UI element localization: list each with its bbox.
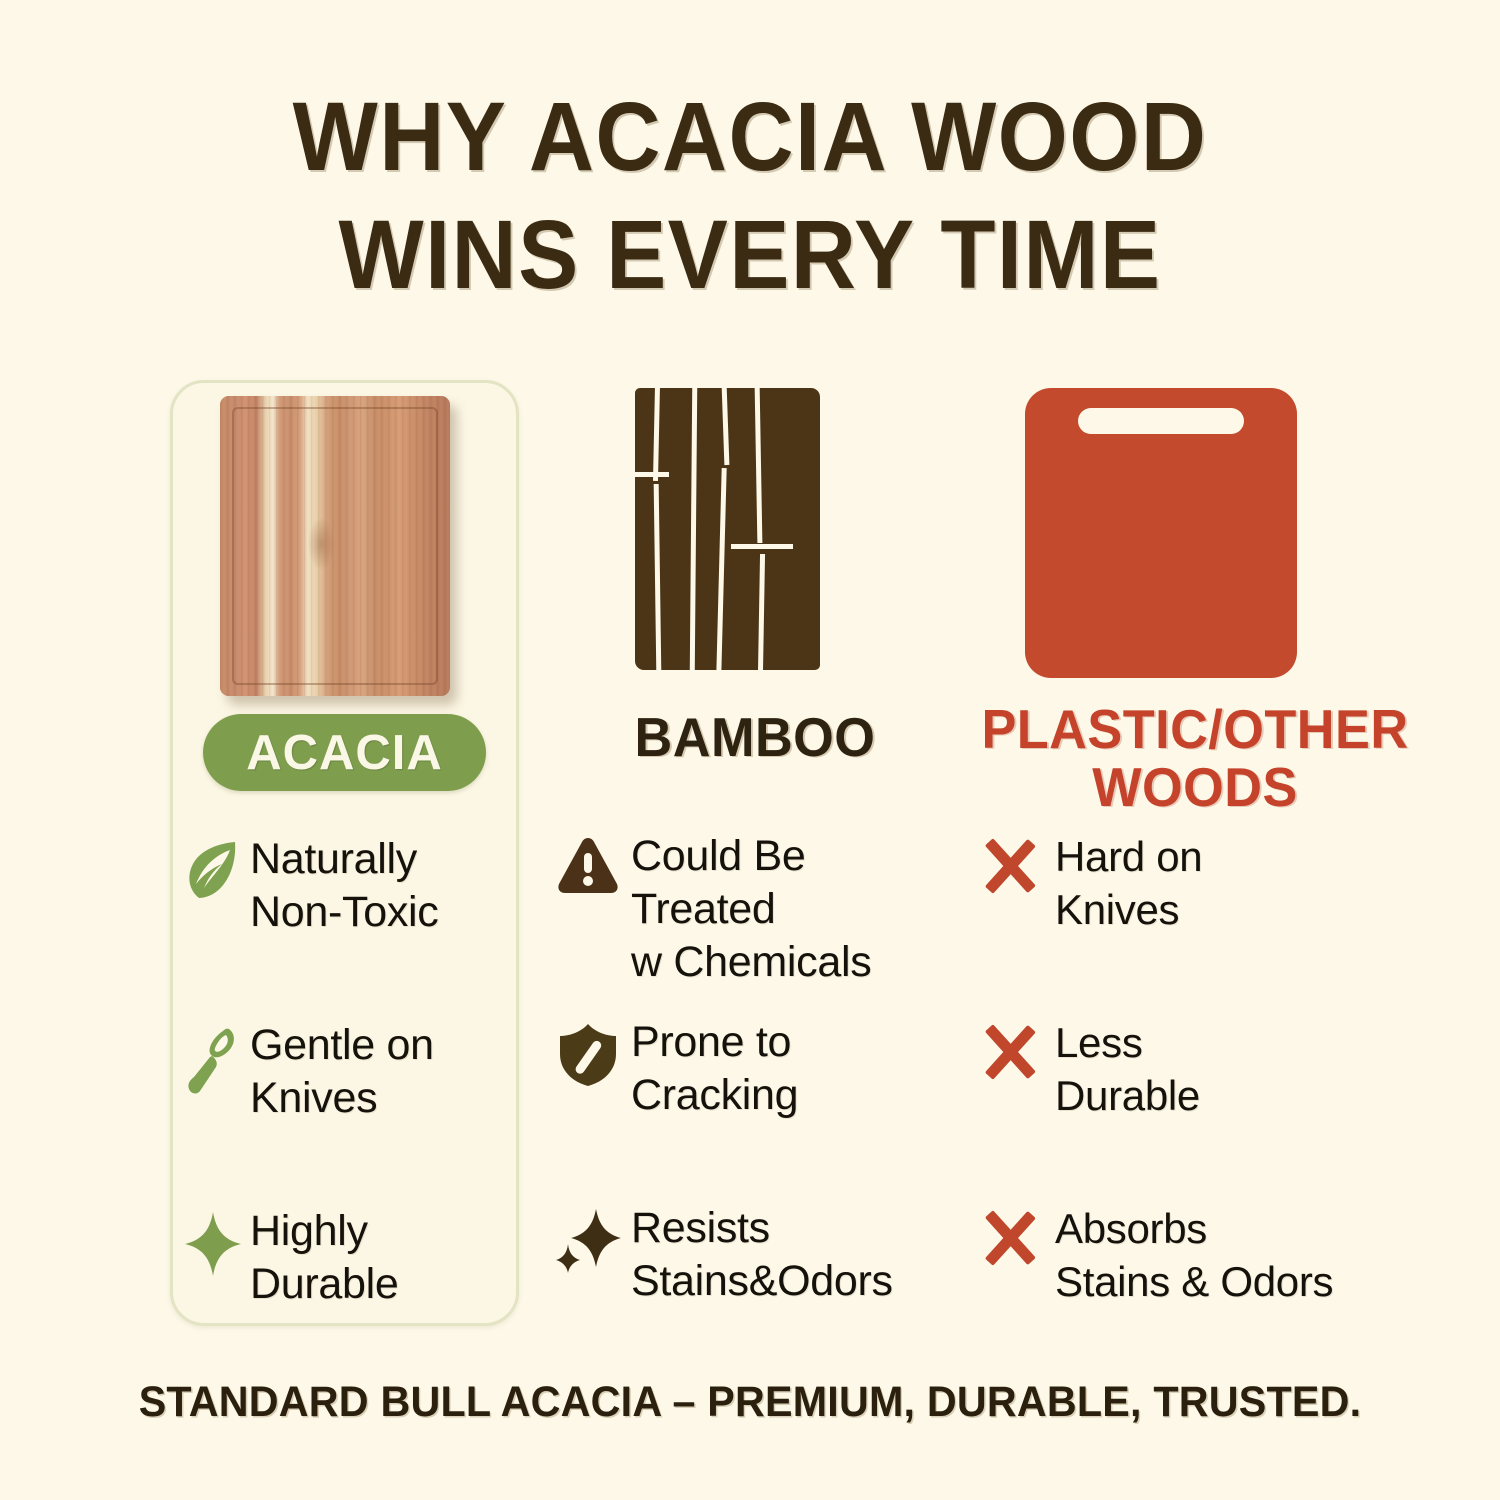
sparkle-icon (176, 1205, 250, 1277)
acacia-header-badge: ACACIA (203, 714, 486, 791)
feature-label: Naturally Non-Toxic (250, 833, 438, 939)
feature-label: Less Durable (1055, 1016, 1200, 1122)
comparison-columns: ACACIA Naturally Non-Toxic (0, 378, 1500, 1338)
bamboo-cutting-board-icon (635, 388, 820, 670)
column-plastic: PLASTIC/OTHER WOODS Hard on Knives (965, 378, 1425, 1338)
feature-label: Gentle on Knives (250, 1019, 434, 1125)
plastic-visual (965, 378, 1425, 698)
bamboo-slit (758, 554, 765, 670)
feature-label: Highly Durable (250, 1205, 398, 1311)
feature-label: Could Be Treated w Chemicals (631, 830, 871, 989)
feature-row: Highly Durable (170, 1205, 520, 1385)
bamboo-slit (755, 388, 763, 543)
double-sparkle-icon (545, 1202, 631, 1274)
bamboo-visual (545, 378, 965, 698)
feature-label: Hard on Knives (1055, 830, 1202, 936)
acacia-wood-cutting-board-icon (220, 396, 450, 696)
feature-row: Gentle on Knives (170, 1019, 520, 1199)
feature-row: Naturally Non-Toxic (170, 833, 520, 1013)
acacia-visual (170, 378, 520, 698)
acacia-header-label: ACACIA (246, 725, 443, 781)
feature-row: Less Durable (965, 1016, 1425, 1196)
bamboo-slit (716, 468, 726, 670)
shield-crack-icon (545, 1016, 631, 1088)
plastic-cutting-board-icon (1025, 388, 1297, 678)
bamboo-slit (635, 472, 669, 477)
leaf-icon (176, 833, 250, 901)
wood-groove (232, 407, 438, 685)
page-title: WHY ACACIA WOOD WINS EVERY TIME (0, 78, 1500, 314)
bamboo-feature-list: Could Be Treated w Chemicals Prone to Cr… (545, 830, 965, 1388)
feature-row: Absorbs Stains & Odors (965, 1202, 1425, 1382)
plastic-board-handle (1078, 408, 1244, 434)
bamboo-slit (690, 388, 698, 670)
column-bamboo: BAMBOO Could Be Treated w Chemicals (545, 378, 965, 1338)
plastic-header-label: PLASTIC/OTHER WOODS (977, 700, 1414, 816)
feature-row: Could Be Treated w Chemicals (545, 830, 965, 1010)
knife-icon (176, 1019, 250, 1095)
acacia-feature-list: Naturally Non-Toxic Gentle on Knives (170, 833, 520, 1391)
page-title-line-2: WINS EVERY TIME (53, 196, 1448, 314)
feature-label: Resists Stains&Odors (631, 1202, 893, 1308)
x-mark-icon (965, 1016, 1055, 1082)
x-mark-icon (965, 1202, 1055, 1268)
feature-row: Hard on Knives (965, 830, 1425, 1010)
warning-triangle-icon (545, 830, 631, 896)
feature-label: Absorbs Stains & Odors (1055, 1202, 1333, 1308)
bamboo-slit (731, 544, 793, 549)
feature-row: Resists Stains&Odors (545, 1202, 965, 1382)
bamboo-slit (653, 388, 660, 481)
bamboo-header-label: BAMBOO (556, 708, 955, 766)
x-mark-icon (965, 830, 1055, 896)
feature-label: Prone to Cracking (631, 1016, 798, 1122)
feature-row: Prone to Cracking (545, 1016, 965, 1196)
plastic-feature-list: Hard on Knives Less Durable (965, 830, 1425, 1388)
bamboo-slit (654, 484, 662, 670)
page-title-line-1: WHY ACACIA WOOD (53, 78, 1448, 196)
bamboo-slit (722, 388, 730, 465)
column-acacia: ACACIA Naturally Non-Toxic (170, 378, 520, 1338)
footer-tagline: STANDARD BULL ACACIA – PREMIUM, DURABLE,… (30, 1378, 1470, 1427)
